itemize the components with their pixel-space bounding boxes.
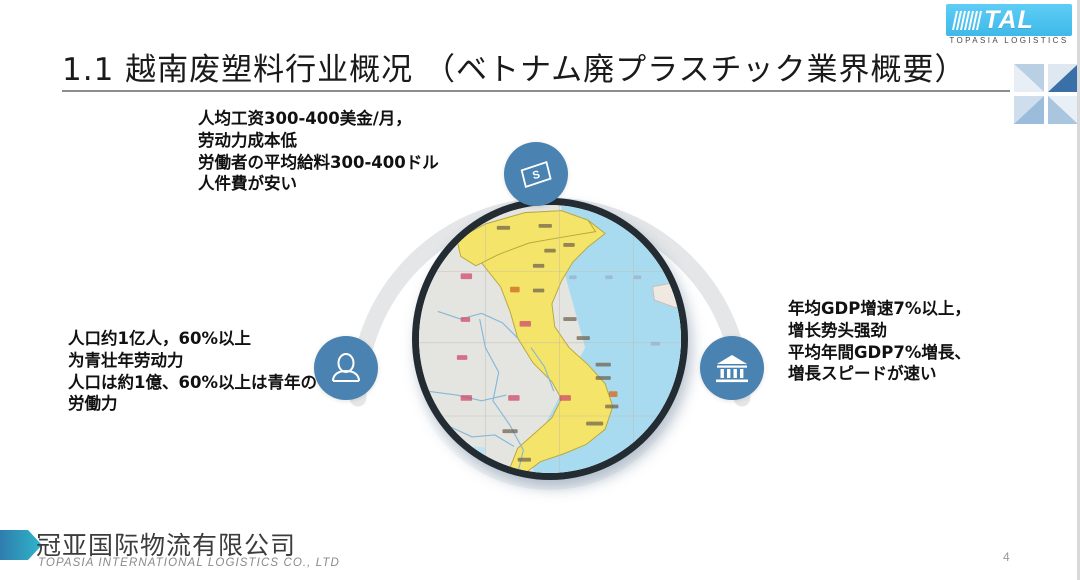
bank-icon-bubble (700, 336, 764, 400)
money-icon: S (519, 157, 553, 191)
title-divider (62, 90, 1010, 92)
callout-population-text: 人口约1亿人，60%以上 为青壮年劳动力 人口は約1億、60%以上は青年の 労働… (68, 328, 317, 415)
logo-stripes-icon (954, 11, 980, 30)
page-title: 1.1 越南废塑料行业概况 （ベトナム廃プラスチック業界概要） (62, 44, 966, 89)
vietnam-map-icon (419, 205, 681, 473)
person-icon (329, 351, 363, 385)
bank-icon (714, 351, 750, 385)
footer-company-en: TOPASIA INTERNATIONAL LOGISTICS CO., LTD (38, 557, 340, 569)
person-icon-bubble (314, 336, 378, 400)
slide-canvas: TAL TOPASIA LOGISTICS 1.1 越南废塑料行业概况 （ベトナ… (0, 0, 1080, 580)
logo-text: TAL (984, 8, 1034, 33)
callout-wage-text: 人均工资300-400美金/月， 劳动力成本低 労働者の平均給料300-400ド… (198, 108, 439, 195)
pinwheel-decoration-icon (1012, 56, 1080, 130)
callout-gdp-text: 年均GDP增速7%以上， 增长势头强劲 平均年間GDP7%増長、 増長スピードが… (788, 298, 971, 385)
money-icon-bubble: S (504, 142, 568, 206)
vietnam-map-globe (412, 198, 688, 480)
page-number: 4 (1003, 550, 1010, 564)
tal-logo: TAL (946, 4, 1072, 36)
svg-text:S: S (531, 169, 541, 182)
